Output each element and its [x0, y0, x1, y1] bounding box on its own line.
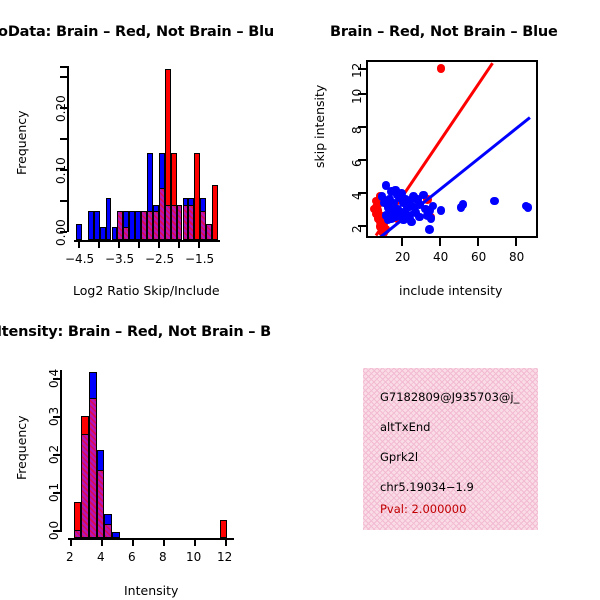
info-locus: chr5.19034−1.9 [380, 480, 474, 494]
intensity-y-ticklabel: 0.4 [47, 369, 61, 388]
intensity-histogram-bars [66, 370, 234, 539]
intensity-histogram-xlabel: Intensity [124, 583, 178, 598]
scatter-point-not-brain [380, 199, 389, 208]
scatter-points-layer [368, 62, 536, 236]
scatter-x-tick [515, 238, 517, 246]
intensity-y-ticklabel: 0.3 [47, 407, 61, 426]
ratio-x-tick [118, 240, 120, 248]
ratio-histogram-xlabel: Log2 Ratio Skip/Include [73, 283, 220, 298]
scatter-y-ticklabel: 8 [350, 126, 364, 134]
intensity-x-tick [225, 538, 227, 546]
ratio-x-tick [98, 240, 100, 248]
scatter-plot-frame [366, 60, 538, 238]
histogram-bar [89, 398, 97, 538]
histogram-bar [220, 520, 228, 538]
scatter-point-not-brain [419, 191, 428, 200]
intensity-x-ticklabel: 8 [159, 550, 167, 564]
intensity-x-ticklabel: 6 [128, 550, 136, 564]
intensity-histogram-title: ne Itensity: Brain – Red, Not Brain – B [0, 324, 271, 340]
info-pval: Pval: 2.000000 [380, 502, 466, 516]
intensity-x-tick [132, 538, 134, 546]
intensity-y-ticklabel: 0.0 [47, 521, 61, 540]
info-box: G7182809@J935703@j_ altTxEnd Gprk2l chr5… [363, 368, 538, 530]
scatter-point-not-brain [490, 197, 499, 206]
info-event-type: altTxEnd [380, 420, 430, 434]
panel-intensity-scatter: Brain – Red, Not Brain – Blue skip inten… [300, 0, 600, 300]
scatter-point-not-brain [459, 200, 468, 209]
histogram-bar [81, 434, 89, 538]
ratio-x-ticklabel: −4.5 [65, 252, 94, 266]
scatter-y-ticklabel: 4 [350, 192, 364, 200]
intensity-x-ticklabel: 10 [186, 550, 201, 564]
ratio-x-tick [198, 240, 200, 248]
scatter-point-not-brain [415, 213, 424, 222]
scatter-point-not-brain [425, 225, 434, 234]
ratio-x-ticklabel: −3.5 [105, 252, 134, 266]
intensity-x-tick [163, 538, 165, 546]
ratio-y-ticklabel: 0.20 [54, 95, 68, 122]
scatter-ylabel: skip intensity [312, 85, 327, 168]
scatter-point-brain [437, 64, 446, 73]
scatter-x-tick [401, 238, 403, 246]
intensity-y-ticklabel: 0.1 [47, 483, 61, 502]
scatter-xlabel: include intensity [399, 283, 502, 298]
panel-intensity-histogram: ne Itensity: Brain – Red, Not Brain – B … [0, 300, 300, 600]
intensity-histogram-plot: 0.0 0.1 0.2 0.3 0.4 2 4 6 8 10 12 [66, 370, 234, 532]
scatter-y-ticklabel: 10 [350, 89, 364, 104]
ratio-y-axis [67, 66, 69, 232]
ratio-y-tick [60, 66, 67, 68]
ratio-x-tick [78, 240, 80, 248]
ratio-y-ticklabel: 0.00 [54, 219, 68, 246]
scatter-point-not-brain [437, 206, 446, 215]
histogram-bar [212, 185, 218, 240]
scatter-y-ticklabel: 6 [350, 159, 364, 167]
ratio-x-ticklabel: −2.5 [145, 252, 174, 266]
info-id: G7182809@J935703@j_ [380, 390, 519, 404]
ratio-x-ticklabel: −1.5 [185, 252, 214, 266]
scatter-point-not-brain [407, 218, 416, 227]
panel-ratio-histogram: RatioData: Brain – Red, Not Brain – Blu … [0, 0, 300, 300]
scatter-x-ticklabel: 40 [433, 250, 448, 264]
ratio-x-tick [138, 240, 140, 248]
histogram-bar [112, 532, 120, 538]
scatter-x-ticklabel: 20 [395, 250, 410, 264]
scatter-x-tick [439, 238, 441, 246]
scatter-point-not-brain [384, 216, 393, 225]
intensity-x-ticklabel: 4 [97, 550, 105, 564]
intensity-histogram-ylabel: Frequency [14, 415, 29, 480]
scatter-title: Brain – Red, Not Brain – Blue [330, 24, 558, 40]
intensity-x-ticklabel: 12 [217, 550, 232, 564]
intensity-x-tick [194, 538, 196, 546]
intensity-y-ticklabel: 0.2 [47, 445, 61, 464]
ratio-x-tick [158, 240, 160, 248]
ratio-x-tick [178, 240, 180, 248]
ratio-y-tick [60, 76, 67, 78]
ratio-y-tick [60, 200, 67, 202]
intensity-x-ticklabel: 2 [66, 550, 74, 564]
scatter-x-ticklabel: 60 [471, 250, 486, 264]
scatter-y-ticklabel: 2 [350, 225, 364, 233]
scatter-x-ticklabel: 80 [509, 250, 524, 264]
figure-canvas: RatioData: Brain – Red, Not Brain – Blu … [0, 0, 600, 600]
ratio-histogram-title: RatioData: Brain – Red, Not Brain – Blu [0, 24, 274, 40]
info-gene: Gprk2l [380, 450, 418, 464]
histogram-bar [97, 470, 105, 538]
scatter-x-tick [477, 238, 479, 246]
ratio-y-tick [60, 138, 67, 140]
scatter-point-not-brain [427, 214, 436, 223]
scatter-point-not-brain [524, 203, 533, 212]
intensity-x-tick [70, 538, 72, 546]
ratio-histogram-plot: 0.00 0.10 0.20 −4.5 −3.5 −2.5 −1.5 [76, 66, 218, 232]
ratio-histogram-bars [76, 66, 218, 241]
ratio-histogram-ylabel: Frequency [14, 110, 29, 175]
scatter-y-ticklabel: 12 [350, 63, 364, 78]
ratio-y-ticklabel: 0.10 [54, 157, 68, 184]
histogram-bar [76, 224, 82, 240]
histogram-bar [74, 530, 82, 538]
panel-info: G7182809@J935703@j_ altTxEnd Gprk2l chr5… [300, 300, 600, 600]
histogram-bar [104, 524, 112, 538]
intensity-x-tick [101, 538, 103, 546]
